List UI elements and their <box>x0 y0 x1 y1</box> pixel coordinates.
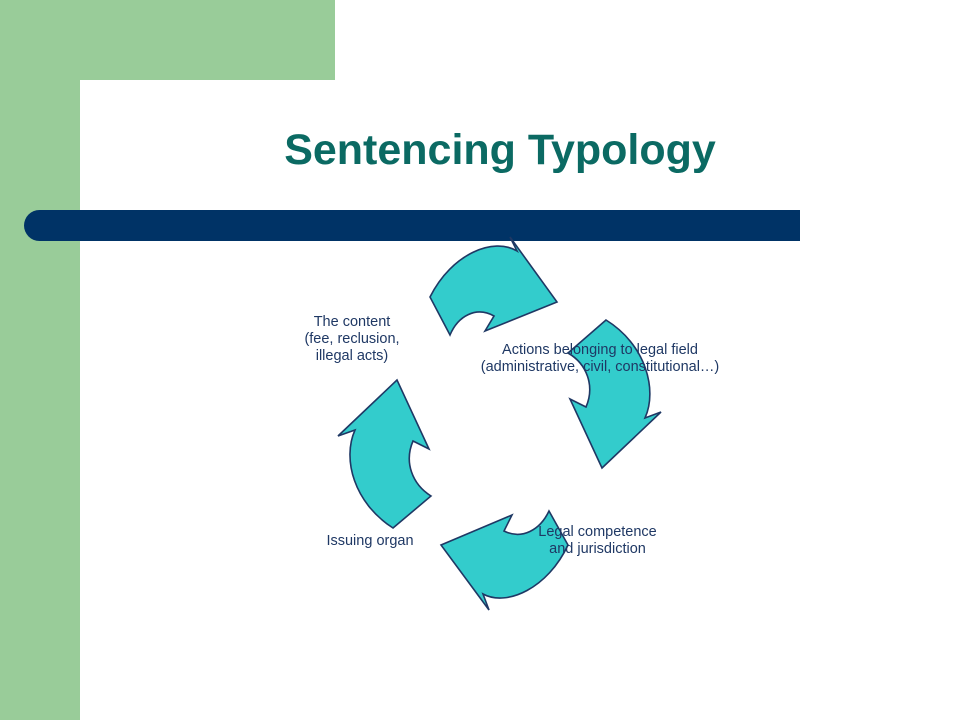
cycle-node-content-label: The content (fee, reclusion, illegal act… <box>272 314 432 365</box>
slide-canvas: Sentencing Typology The content (fee, re… <box>0 0 960 720</box>
arrow-top-icon <box>430 237 557 335</box>
cycle-node-issuing-organ-label: Issuing organ <box>300 533 440 550</box>
cycle-node-actions-label: Actions belonging to legal field (admini… <box>455 342 745 376</box>
page-title: Sentencing Typology <box>100 126 900 175</box>
cycle-node-legal-competence-label: Legal competence and jurisdiction <box>510 524 685 558</box>
cycle-diagram: The content (fee, reclusion, illegal act… <box>280 240 720 650</box>
arrow-left-icon <box>338 380 431 528</box>
green-left-strip <box>0 0 80 720</box>
title-divider-bar <box>24 210 800 241</box>
green-top-band <box>0 0 335 80</box>
